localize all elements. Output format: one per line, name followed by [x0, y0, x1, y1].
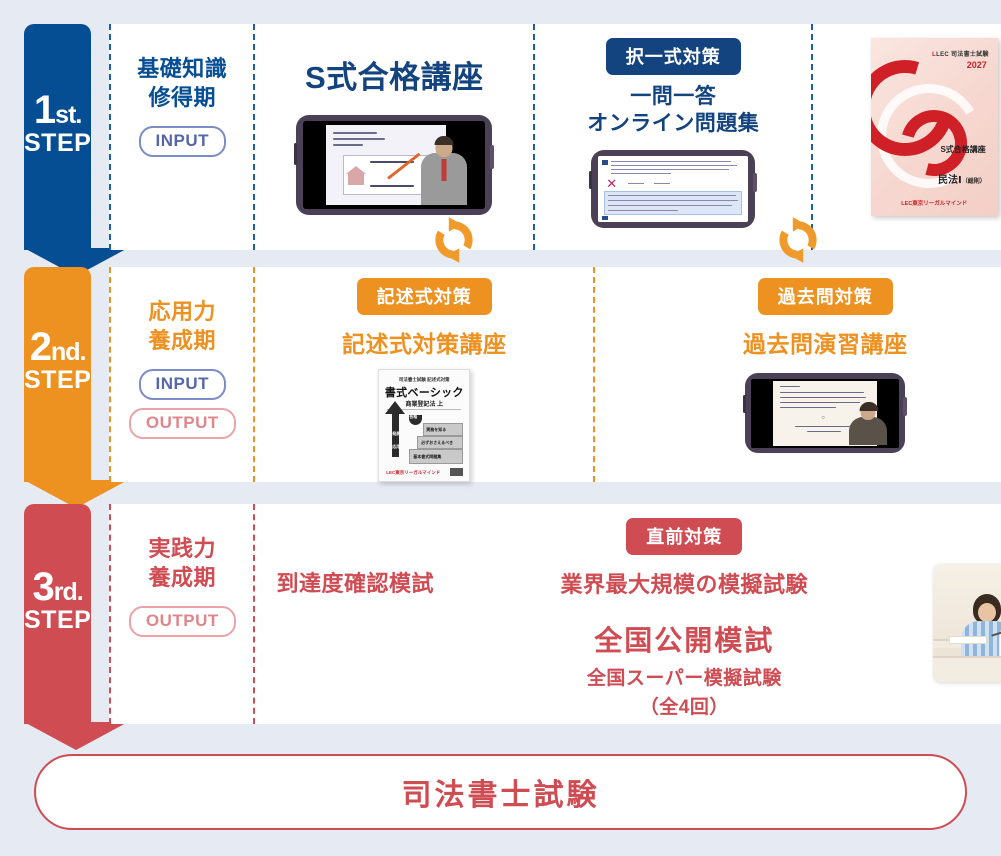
step-1-tag-input: INPUT [139, 126, 227, 157]
book-publisher: LLEC 司法書士試験 [932, 49, 989, 58]
gray-book-arrow-2: 応用 [392, 444, 400, 450]
national-mock-count: （全4回） [640, 692, 729, 719]
national-mock-headline: 業界最大規模の模擬試験 [561, 567, 809, 599]
step-1-phase: 基礎知識 修得期 INPUT [111, 24, 253, 250]
cycle-icon-1 [428, 214, 480, 266]
gray-book-bar3: 基本書式問題集 [413, 454, 441, 460]
step-2-phase: 応用力 養成期 INPUT OUTPUT [111, 267, 253, 482]
book-cover-red: LLEC 司法書士試験 2027 S式合格講座 民法Ⅰ（総則） LEC東京リーガ… [871, 38, 998, 216]
s-shiki-headline: S式合格講座 [305, 52, 484, 97]
step-2-panel: 応用力 養成期 INPUT OUTPUT 記述式対策 記述式対策講座 司法書士試… [109, 267, 1001, 482]
step-1-badge: 1st. STEP [24, 24, 91, 250]
step-3-phase: 実践力 養成期 OUTPUT [111, 504, 253, 724]
gray-book-title: 書式ベーシック [379, 384, 469, 400]
step-2-tag-output: OUTPUT [129, 408, 236, 439]
item-online-quiz: 択一式対策 一問一答 オンライン問題集 ✕ [533, 24, 811, 250]
online-quiz-badge: 択一式対策 [606, 38, 741, 75]
step-3-badge: 3rd. STEP [24, 504, 91, 724]
national-mock-badge: 直前対策 [626, 518, 742, 555]
book-subject: 民法Ⅰ（総則） [938, 171, 986, 186]
phone-quiz-mockup: ✕ [591, 150, 755, 228]
online-quiz-headline: 一問一答 オンライン問題集 [587, 83, 759, 138]
gray-book-arrow-1: 発展 [392, 431, 400, 437]
book-cover-gray: 司法書士試験 記述式対策 書式ベーシック 商業登記法 上 実務を知る 必ずおさえ… [378, 369, 470, 482]
kijutsu-headline: 記述式対策講座 [342, 325, 507, 359]
item-kijutsu-course: 記述式対策 記述式対策講座 司法書士試験 記述式対策 書式ベーシック 商業登記法… [253, 267, 593, 482]
step-2-phase-title: 応用力 養成期 [149, 297, 217, 355]
step-1-label: STEP [24, 129, 91, 158]
step-2-number: 2nd. [30, 328, 86, 366]
item-students-photo [913, 504, 1001, 724]
step-1-band: 1st. STEP 基礎知識 修得期 INPUT S式合格講座 [0, 24, 1001, 250]
book-footer: LEC東京リーガルマインド [901, 199, 967, 207]
step-1-phase-title: 基礎知識 修得期 [137, 54, 227, 112]
step-3-number: 3rd. [33, 568, 83, 606]
step-2-label: STEP [24, 366, 91, 395]
step-3-phase-title: 実践力 養成期 [149, 534, 217, 592]
gray-book-cup-label: 合格 [409, 414, 417, 420]
phone-kakomon-mockup: ○ [745, 373, 905, 453]
step-3-tag-output: OUTPUT [129, 606, 236, 637]
kakomon-badge: 過去問対策 [758, 278, 893, 315]
exam-banner: 司法書士試験 [34, 754, 967, 830]
gray-book-top: 司法書士試験 記述式対策 [379, 377, 469, 383]
item-mock-exams: 到達度確認模試 直前対策 業界最大規模の模擬試験 全国公開模試 全国スーパー模擬… [253, 504, 913, 724]
item-kakomon-course: 過去問対策 過去問演習講座 ○ [593, 267, 1001, 482]
item-s-shiki-course: S式合格講座 [253, 24, 533, 250]
student-back [961, 594, 1001, 654]
step-3-band: 3rd. STEP 実践力 養成期 OUTPUT 到達度確認模試 直前対策 業界… [0, 504, 1001, 724]
kakomon-headline: 過去問演習講座 [743, 325, 908, 359]
national-mock-subtitle: 全国スーパー模擬試験 [587, 663, 782, 690]
gray-book-arrow-3: 基礎 [392, 457, 400, 463]
book-year: 2027 [967, 60, 987, 70]
step-2-tag-input: INPUT [139, 369, 227, 400]
step-3-label: STEP [24, 606, 91, 635]
phone-lecture-mockup [296, 115, 492, 215]
item-textbook-red: LLEC 司法書士試験 2027 S式合格講座 民法Ⅰ（総則） LEC東京リーガ… [811, 24, 1001, 250]
gray-book-footer: LEC東京リーガルマインド [386, 470, 440, 476]
achievement-mock-headline: 到達度確認模試 [255, 566, 455, 598]
gray-book-bar1: 実務を知る [426, 427, 446, 433]
step-1-panel: 基礎知識 修得期 INPUT S式合格講座 [109, 24, 1001, 250]
step-1-number: 1st. [34, 91, 81, 129]
book-title: S式合格講座 [940, 144, 985, 155]
kijutsu-badge: 記述式対策 [357, 278, 492, 315]
step-2-badge: 2nd. STEP [24, 267, 91, 482]
cycle-icon-2 [772, 214, 824, 266]
step-3-panel: 実践力 養成期 OUTPUT 到達度確認模試 直前対策 業界最大規模の模擬試験 … [109, 504, 1001, 724]
gray-book-bar2: 必ずおさえるべき [421, 440, 453, 446]
students-photo [933, 564, 1001, 682]
step-2-band: 2nd. STEP 応用力 養成期 INPUT OUTPUT 記述式対策 記述式… [0, 267, 1001, 482]
exam-label: 司法書士試験 [402, 770, 600, 814]
national-mock-title: 全国公開模試 [594, 619, 774, 659]
